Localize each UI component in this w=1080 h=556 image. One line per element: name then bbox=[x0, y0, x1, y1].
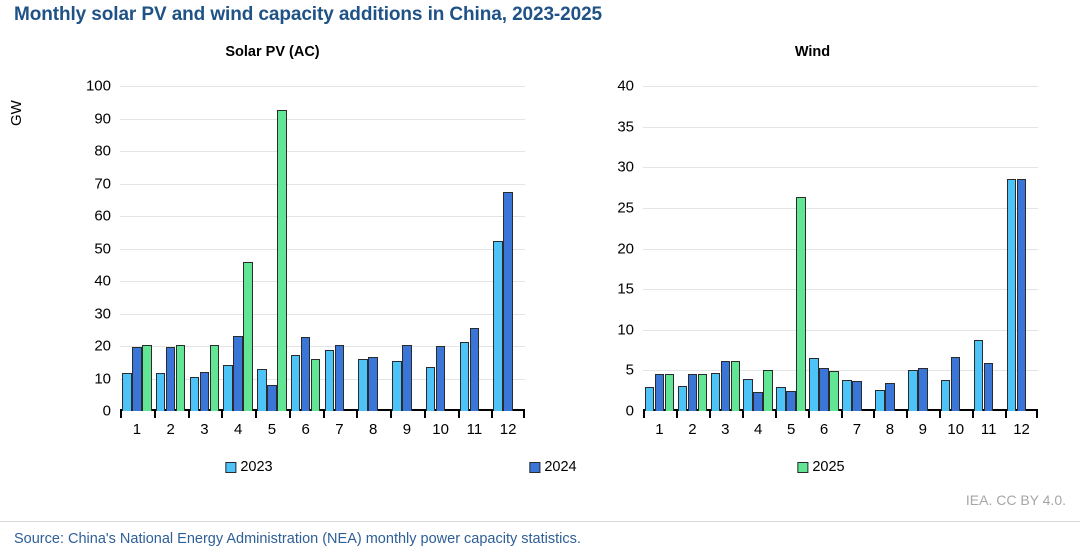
bar-2024-month-9 bbox=[402, 345, 412, 411]
x-axis-tick-mark bbox=[775, 411, 777, 418]
x-axis-tick-mark bbox=[491, 411, 493, 418]
y-axis-tick-label: 50 bbox=[94, 240, 111, 257]
bar-2023-month-3 bbox=[190, 377, 200, 411]
gridline bbox=[643, 127, 1038, 128]
x-axis-tick-label: 11 bbox=[981, 421, 997, 438]
bar-2024-month-1 bbox=[655, 374, 665, 411]
x-axis-tick-label: 9 bbox=[919, 421, 927, 438]
bar-2024-month-4 bbox=[233, 336, 243, 411]
x-axis-tick-label: 8 bbox=[886, 421, 894, 438]
bar-2024-month-5 bbox=[786, 391, 796, 411]
x-axis-tick-mark bbox=[120, 411, 122, 418]
bar-2023-month-10 bbox=[426, 367, 436, 411]
bar-2023-month-3 bbox=[711, 373, 721, 411]
x-axis-tick-mark bbox=[742, 411, 744, 418]
bar-2024-month-8 bbox=[368, 357, 378, 411]
plot-area-wind: 0510152025303540123456789101112 bbox=[643, 86, 1038, 411]
bar-2024-month-9 bbox=[918, 368, 928, 411]
bar-2024-month-2 bbox=[166, 347, 176, 411]
x-axis-tick-label: 12 bbox=[1013, 421, 1030, 438]
source-note: Source: China's National Energy Administ… bbox=[14, 531, 581, 547]
x-axis-tick-mark bbox=[188, 411, 190, 418]
bar-2024-month-8 bbox=[885, 383, 895, 411]
y-axis-tick-label: 70 bbox=[94, 175, 111, 192]
x-axis-tick-mark bbox=[841, 411, 843, 418]
x-axis-tick-label: 1 bbox=[133, 421, 141, 438]
x-axis-tick-label: 12 bbox=[500, 421, 517, 438]
x-axis-tick-label: 3 bbox=[721, 421, 729, 438]
legend-swatch-icon bbox=[225, 462, 236, 473]
y-axis-tick-label: 5 bbox=[626, 362, 634, 379]
bar-2023-month-12 bbox=[493, 241, 503, 411]
y-axis-tick-label: 40 bbox=[94, 273, 111, 290]
gridline bbox=[643, 249, 1038, 250]
x-axis-tick-label: 3 bbox=[200, 421, 208, 438]
bar-2023-month-1 bbox=[645, 387, 655, 411]
bar-2023-month-9 bbox=[392, 361, 402, 411]
legend-item-2024[interactable]: 2024 bbox=[529, 459, 576, 475]
gridline bbox=[120, 119, 525, 120]
x-axis-tick-label: 2 bbox=[688, 421, 696, 438]
y-axis-tick-label: 40 bbox=[617, 78, 634, 95]
x-axis-tick-mark bbox=[390, 411, 392, 418]
y-axis-tick-label: 60 bbox=[94, 208, 111, 225]
bar-2024-month-7 bbox=[335, 345, 345, 411]
x-axis-tick-mark bbox=[323, 411, 325, 418]
gridline bbox=[643, 330, 1038, 331]
legend-item-2023[interactable]: 2023 bbox=[225, 459, 272, 475]
bar-2024-month-4 bbox=[753, 392, 763, 411]
gridline bbox=[120, 281, 525, 282]
footer-divider bbox=[0, 521, 1080, 522]
x-axis-tick-mark bbox=[873, 411, 875, 418]
x-axis-tick-label: 10 bbox=[432, 421, 449, 438]
x-axis-tick-label: 11 bbox=[467, 421, 483, 438]
bar-2023-month-4 bbox=[223, 365, 233, 411]
x-axis-tick-label: 5 bbox=[787, 421, 795, 438]
x-axis-tick-mark bbox=[1036, 411, 1038, 418]
y-axis-tick-label: 100 bbox=[86, 78, 111, 95]
x-axis-tick-mark bbox=[458, 411, 460, 418]
x-axis-tick-mark bbox=[676, 411, 678, 418]
gridline bbox=[643, 289, 1038, 290]
bar-2025-month-5 bbox=[277, 110, 287, 411]
x-axis-tick-label: 8 bbox=[369, 421, 377, 438]
bar-2024-month-3 bbox=[200, 372, 210, 411]
bar-2023-month-7 bbox=[842, 380, 852, 411]
bar-2024-month-11 bbox=[470, 328, 480, 411]
y-axis-tick-label: 90 bbox=[94, 110, 111, 127]
bar-2025-month-6 bbox=[829, 371, 839, 411]
bar-2024-month-5 bbox=[267, 385, 277, 411]
bar-2024-month-2 bbox=[688, 374, 698, 411]
y-axis-tick-label: 20 bbox=[94, 338, 111, 355]
bar-2025-month-2 bbox=[698, 374, 708, 411]
x-axis-tick-label: 10 bbox=[947, 421, 964, 438]
gridline bbox=[643, 167, 1038, 168]
y-axis-tick-label: 10 bbox=[617, 321, 634, 338]
y-axis-tick-label: 30 bbox=[617, 159, 634, 176]
bar-2023-month-1 bbox=[122, 373, 132, 411]
y-axis-tick-label: 35 bbox=[617, 118, 634, 135]
bar-2023-month-5 bbox=[257, 369, 267, 411]
chart-legend: 202320242025 bbox=[0, 459, 1080, 481]
bar-2024-month-10 bbox=[436, 346, 446, 411]
bar-2024-month-12 bbox=[503, 192, 513, 411]
chart-panel-solar: Solar PV (AC) GW 01020304050607080901001… bbox=[0, 44, 545, 444]
plot-area-solar: 0102030405060708090100123456789101112 bbox=[120, 86, 525, 411]
x-axis-tick-mark bbox=[424, 411, 426, 418]
bar-2024-month-11 bbox=[984, 363, 994, 411]
y-axis-label-gw: GW bbox=[8, 100, 25, 126]
gridline bbox=[120, 216, 525, 217]
x-axis-tick-label: 6 bbox=[820, 421, 828, 438]
legend-swatch-icon bbox=[797, 462, 808, 473]
legend-label: 2024 bbox=[544, 459, 576, 475]
bar-2025-month-6 bbox=[311, 359, 321, 411]
y-axis-tick-label: 20 bbox=[617, 240, 634, 257]
bar-2023-month-4 bbox=[743, 379, 753, 412]
bar-2024-month-6 bbox=[301, 337, 311, 411]
y-axis-tick-label: 10 bbox=[94, 370, 111, 387]
x-axis-tick-mark bbox=[643, 411, 645, 418]
bar-2025-month-3 bbox=[731, 361, 741, 411]
x-axis-tick-mark bbox=[1005, 411, 1007, 418]
y-axis-tick-label: 15 bbox=[617, 281, 634, 298]
x-axis-tick-mark bbox=[154, 411, 156, 418]
x-axis-tick-mark bbox=[523, 411, 525, 418]
y-axis-tick-label: 0 bbox=[626, 403, 634, 420]
bar-2025-month-1 bbox=[142, 345, 152, 411]
x-axis-tick-label: 1 bbox=[655, 421, 663, 438]
x-axis-tick-label: 4 bbox=[234, 421, 242, 438]
x-axis-tick-mark bbox=[289, 411, 291, 418]
chart-panel-wind: Wind 0510152025303540123456789101112 bbox=[545, 44, 1080, 444]
page-title: Monthly solar PV and wind capacity addit… bbox=[14, 4, 602, 26]
bar-2023-month-10 bbox=[941, 380, 951, 411]
x-axis-tick-label: 2 bbox=[166, 421, 174, 438]
y-axis-tick-label: 30 bbox=[94, 305, 111, 322]
bar-2023-month-8 bbox=[875, 390, 885, 411]
bar-2025-month-3 bbox=[210, 345, 220, 411]
bar-2023-month-6 bbox=[291, 355, 301, 411]
x-axis-tick-mark bbox=[255, 411, 257, 418]
bar-2023-month-5 bbox=[776, 387, 786, 411]
bar-2023-month-11 bbox=[974, 340, 984, 412]
x-axis-tick-label: 5 bbox=[268, 421, 276, 438]
bar-2024-month-7 bbox=[852, 381, 862, 411]
bar-2025-month-4 bbox=[763, 370, 773, 411]
bar-2023-month-6 bbox=[809, 358, 819, 411]
legend-item-2025[interactable]: 2025 bbox=[797, 459, 844, 475]
bar-2025-month-2 bbox=[176, 345, 186, 411]
x-axis-tick-label: 4 bbox=[754, 421, 762, 438]
legend-swatch-icon bbox=[529, 462, 540, 473]
gridline bbox=[120, 86, 525, 87]
x-axis-tick-mark bbox=[221, 411, 223, 418]
legend-label: 2025 bbox=[812, 459, 844, 475]
x-axis-tick-label: 6 bbox=[301, 421, 309, 438]
x-axis-tick-label: 9 bbox=[403, 421, 411, 438]
bar-2024-month-3 bbox=[721, 361, 731, 411]
y-axis-tick-label: 80 bbox=[94, 143, 111, 160]
y-axis-tick-label: 25 bbox=[617, 199, 634, 216]
bar-2023-month-9 bbox=[908, 370, 918, 411]
chart-title-wind: Wind bbox=[545, 44, 1080, 60]
bar-2025-month-5 bbox=[796, 197, 806, 411]
iea-credit: IEA. CC BY 4.0. bbox=[966, 492, 1066, 508]
bar-2023-month-12 bbox=[1007, 179, 1017, 411]
legend-label: 2023 bbox=[240, 459, 272, 475]
x-axis-tick-mark bbox=[356, 411, 358, 418]
bar-2023-month-2 bbox=[678, 386, 688, 411]
x-axis-tick-mark bbox=[709, 411, 711, 418]
gridline bbox=[120, 184, 525, 185]
bar-2023-month-8 bbox=[358, 359, 368, 411]
bar-2025-month-1 bbox=[665, 374, 675, 411]
bar-2023-month-11 bbox=[460, 342, 470, 411]
chart-title-solar: Solar PV (AC) bbox=[0, 44, 545, 60]
bar-2024-month-6 bbox=[819, 368, 829, 411]
gridline bbox=[643, 86, 1038, 87]
chart-page: Monthly solar PV and wind capacity addit… bbox=[0, 0, 1080, 556]
x-axis-tick-label: 7 bbox=[335, 421, 343, 438]
x-axis-tick-label: 7 bbox=[853, 421, 861, 438]
x-axis-tick-mark bbox=[906, 411, 908, 418]
x-axis-tick-mark bbox=[972, 411, 974, 418]
bar-2023-month-7 bbox=[325, 350, 335, 411]
y-axis-tick-label: 0 bbox=[103, 403, 111, 420]
x-axis-tick-mark bbox=[808, 411, 810, 418]
x-axis-tick-mark bbox=[939, 411, 941, 418]
bar-2025-month-4 bbox=[243, 262, 253, 411]
gridline bbox=[120, 249, 525, 250]
gridline bbox=[643, 208, 1038, 209]
gridline bbox=[120, 151, 525, 152]
bar-2024-month-1 bbox=[132, 347, 142, 411]
gridline bbox=[120, 314, 525, 315]
bar-2024-month-10 bbox=[951, 357, 961, 411]
bar-2023-month-2 bbox=[156, 373, 166, 411]
bar-2024-month-12 bbox=[1017, 179, 1027, 411]
